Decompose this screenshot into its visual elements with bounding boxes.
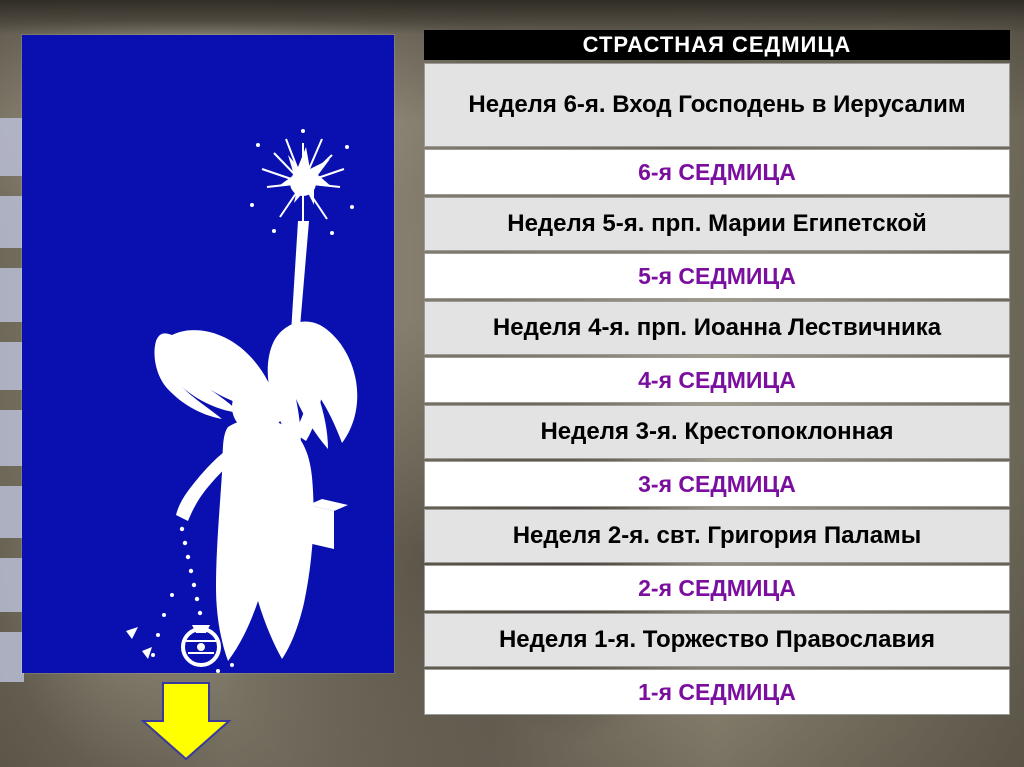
table-header-banner: СТРАСТНАЯ СЕДМИЦА (424, 30, 1010, 60)
table-row: Неделя 3-я. Крестопоклонная (424, 405, 1010, 459)
table-row: 5-я СЕДМИЦА (424, 253, 1010, 299)
edge-tab-3 (0, 268, 24, 322)
row-label-week-5: Неделя 5-я. прп. Марии Египетской (431, 210, 1003, 238)
edge-tab-8 (0, 632, 24, 682)
row-label-week-6: Неделя 6-я. Вход Господень в Иерусалим (431, 91, 1003, 119)
table-row: Неделя 6-я. Вход Господень в Иерусалим (424, 63, 1010, 147)
row-label-week-3: Неделя 3-я. Крестопоклонная (431, 418, 1003, 446)
slide-canvas: СТРАСТНАЯ СЕДМИЦА Неделя 6-я. Вход Госпо… (0, 0, 1024, 767)
illustration-angel (22, 35, 394, 673)
row-label-sedmitsa-2: 2-я СЕДМИЦА (431, 575, 1003, 602)
down-arrow (141, 681, 231, 761)
background-top-shadow (0, 0, 1024, 34)
row-label-sedmitsa-5: 5-я СЕДМИЦА (431, 263, 1003, 290)
banner-title: СТРАСТНАЯ СЕДМИЦА (431, 32, 1003, 58)
row-label-week-2: Неделя 2-я. свт. Григория Паламы (431, 522, 1003, 550)
row-label-week-1: Неделя 1-я. Торжество Православия (431, 626, 1003, 654)
schedule-table: СТРАСТНАЯ СЕДМИЦА Неделя 6-я. Вход Госпо… (424, 30, 1010, 748)
table-row: 1-я СЕДМИЦА (424, 669, 1010, 715)
edge-tab-6 (0, 486, 24, 538)
edge-tab-7 (0, 558, 24, 612)
row-label-sedmitsa-1: 1-я СЕДМИЦА (431, 679, 1003, 706)
edge-tab-1 (0, 118, 24, 176)
table-row: Неделя 1-я. Торжество Православия (424, 613, 1010, 667)
edge-tab-5 (0, 410, 24, 466)
table-row: Неделя 4-я. прп. Иоанна Лествичника (424, 301, 1010, 355)
table-row: Неделя 2-я. свт. Григория Паламы (424, 509, 1010, 563)
table-row: 4-я СЕДМИЦА (424, 357, 1010, 403)
illustration-canvas (22, 35, 394, 673)
table-row: 2-я СЕДМИЦА (424, 565, 1010, 611)
edge-tab-2 (0, 196, 24, 248)
table-row: 3-я СЕДМИЦА (424, 461, 1010, 507)
table-row: 6-я СЕДМИЦА (424, 149, 1010, 195)
row-label-sedmitsa-6: 6-я СЕДМИЦА (431, 159, 1003, 186)
row-label-sedmitsa-4: 4-я СЕДМИЦА (431, 367, 1003, 394)
row-label-week-4: Неделя 4-я. прп. Иоанна Лествичника (431, 314, 1003, 342)
table-row: Неделя 5-я. прп. Марии Египетской (424, 197, 1010, 251)
edge-tab-4 (0, 342, 24, 390)
row-label-sedmitsa-3: 3-я СЕДМИЦА (431, 471, 1003, 498)
